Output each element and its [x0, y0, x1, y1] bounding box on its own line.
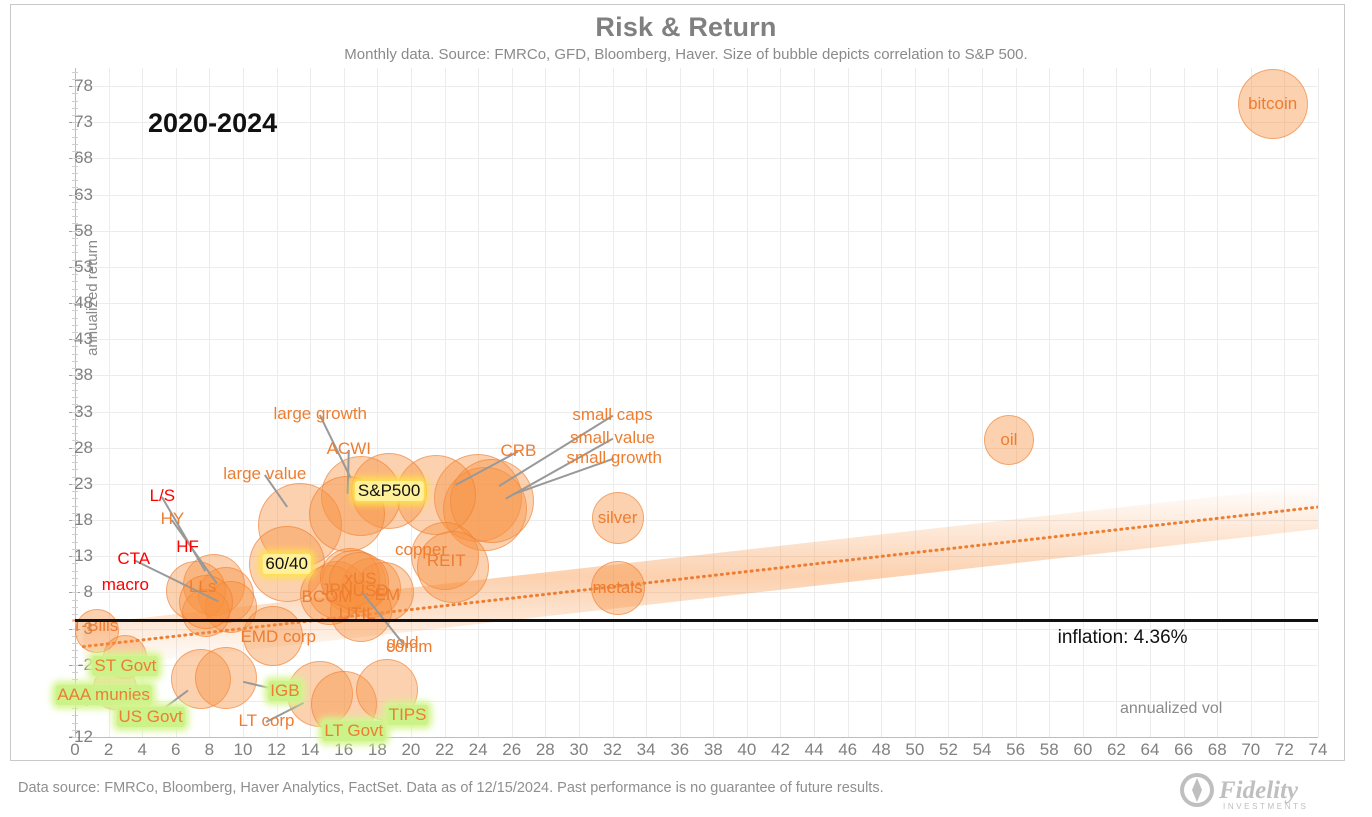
bubble-label-large-value: large value [223, 464, 306, 484]
x-tick-label: 46 [838, 740, 857, 760]
x-tick-label: 50 [905, 740, 924, 760]
chart-title: Risk & Return [0, 12, 1372, 43]
bubble-label-small-value: small value [570, 428, 655, 448]
bubble-label-emd-corp: EMD corp [240, 627, 316, 647]
x-tick-label: 22 [435, 740, 454, 760]
bubble-label-hf: HF [176, 537, 199, 557]
x-tick-label: 40 [737, 740, 756, 760]
x-tick-label: 66 [1174, 740, 1193, 760]
x-tick-label: 38 [704, 740, 723, 760]
x-tick-label: 58 [1040, 740, 1059, 760]
bubble-label-em: EM [375, 585, 401, 605]
inflation-line [75, 619, 1318, 622]
x-tick-label: 12 [267, 740, 286, 760]
x-tick-label: 62 [1107, 740, 1126, 760]
x-axis-line [75, 737, 1318, 738]
x-tick-label: 26 [502, 740, 521, 760]
x-tick-label: 2 [104, 740, 113, 760]
y-minor-tick [72, 737, 78, 738]
bubble-label-lls: LLs [189, 577, 216, 597]
bubble-label-macro: macro [102, 575, 149, 595]
x-tick-label: 6 [171, 740, 180, 760]
x-tick-label: 44 [805, 740, 824, 760]
x-tick-label: 64 [1141, 740, 1160, 760]
inflation-label: inflation: 4.36% [1058, 627, 1188, 649]
svg-text:INVESTMENTS: INVESTMENTS [1223, 802, 1309, 811]
x-tick-label: 72 [1275, 740, 1294, 760]
bubble-label-tips: TIPS [387, 705, 429, 725]
x-tick-label: 30 [569, 740, 588, 760]
bubble-label-hy: HY [161, 509, 185, 529]
x-tick-label: 42 [771, 740, 790, 760]
x-tick-label: 60 [1073, 740, 1092, 760]
x-tick-label: 8 [205, 740, 214, 760]
bubble-label-bitcoin: bitcoin [1248, 94, 1297, 114]
x-tick-label: 70 [1241, 740, 1260, 760]
x-tick-label: 52 [939, 740, 958, 760]
footer-source: Data source: FMRCo, Bloomberg, Haver Ana… [18, 780, 884, 796]
bubble-label-lt-govt: LT Govt [322, 721, 385, 741]
bubble-label-reit: REIT [427, 551, 466, 571]
bubble-label-cta: CTA [117, 549, 150, 569]
bubble-label-small-growth: small growth [566, 448, 661, 468]
fidelity-logo: Fidelity INVESTMENTS [1175, 772, 1350, 812]
bubble-label-l-s: L/S [150, 486, 176, 506]
gridline-v [1318, 68, 1319, 737]
x-tick-label: 54 [973, 740, 992, 760]
x-tick-label: 28 [536, 740, 555, 760]
bubble-label-metals: metals [593, 578, 643, 598]
x-tick-label: 34 [637, 740, 656, 760]
chart-subtitle: Monthly data. Source: FMRCo, GFD, Bloomb… [0, 46, 1372, 63]
bubble-label-aaa-munies: AAA munies [55, 685, 152, 705]
x-tick-label: 74 [1309, 740, 1328, 760]
bubble-label-s-p500: S&P500 [355, 481, 423, 501]
x-tick-label: 56 [1006, 740, 1025, 760]
x-tick-label: 4 [137, 740, 146, 760]
bubble-label-lt-corp: LT corp [238, 711, 294, 731]
bubble-label-60-40: 60/40 [262, 554, 311, 574]
bubble-label-small-caps: small caps [572, 405, 652, 425]
svg-text:Fidelity: Fidelity [1218, 777, 1299, 804]
x-tick-label: 48 [872, 740, 891, 760]
bubble-label-oil: oil [1000, 430, 1017, 450]
bubble-label-large-growth: large growth [273, 404, 367, 424]
bubble-igb[interactable] [195, 647, 257, 709]
x-tick-label: 36 [670, 740, 689, 760]
bubble-label-crb: CRB [500, 441, 536, 461]
bubble-label-acwi: ACWI [327, 439, 371, 459]
bubble-label-us-govt: US Govt [116, 707, 184, 727]
bubble-label-st-govt: ST Govt [92, 656, 158, 676]
x-tick-label: 14 [301, 740, 320, 760]
x-tick-label: 18 [368, 740, 387, 760]
x-tick-label: 10 [234, 740, 253, 760]
x-tick-label: 20 [401, 740, 420, 760]
bubble-label-comm: comm [386, 637, 432, 657]
bubble-label-igb: IGB [268, 681, 301, 701]
x-tick-label: 16 [334, 740, 353, 760]
bubble-label-silver: silver [598, 508, 638, 528]
x-tick-label: 24 [469, 740, 488, 760]
x-tick-label: 68 [1208, 740, 1227, 760]
x-tick-label: 32 [603, 740, 622, 760]
